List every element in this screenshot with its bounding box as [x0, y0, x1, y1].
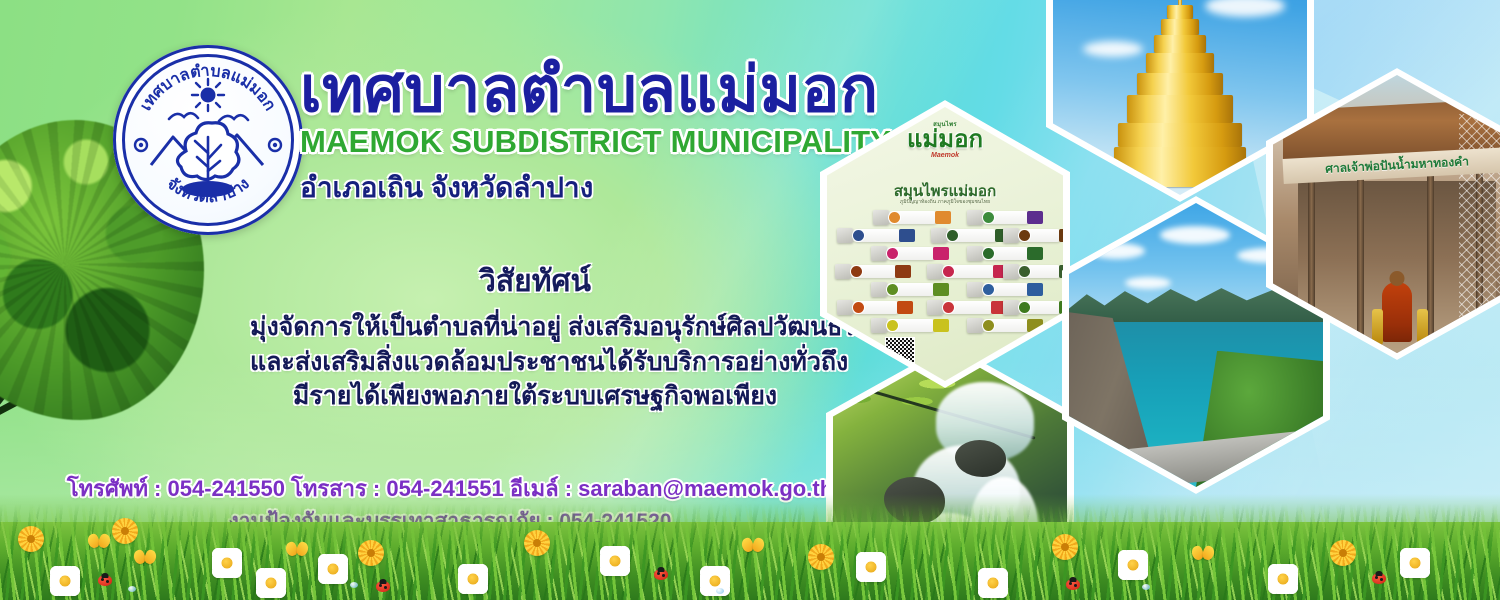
- poster-product-pill: [945, 229, 999, 242]
- dewdrop: [350, 582, 358, 588]
- vision-block: วิสัยทัศน์ มุ่งจัดการให้เป็นตำบลที่น่าอย…: [250, 258, 820, 414]
- shrine-offering: [1372, 309, 1383, 345]
- chedi-tier: [1146, 53, 1214, 73]
- yellow-flower: [18, 526, 44, 552]
- poster-product-pill: [887, 211, 939, 224]
- poster-product-pill: [941, 301, 995, 314]
- yellow-flower: [524, 530, 550, 556]
- vision-line-1: มุ่งจัดการให้เป็นตำบลที่น่าอยู่ ส่งเสริม…: [250, 310, 820, 345]
- poster-product-pill: [851, 229, 903, 242]
- poster-subtitle: ภูมิปัญญาท้องถิ่น ภาคภูมิใจของชุมชนไทย: [827, 198, 1063, 206]
- daisy-flower: [50, 566, 80, 596]
- butterfly: [742, 538, 764, 554]
- municipality-banner: เทศบาลตำบลแม่มอก จังหวัดลำปาง เทศบาลตำบล…: [0, 0, 1500, 600]
- chedi-base: [1118, 123, 1242, 147]
- vision-line-3: มีรายได้เพียงพอภายใต้ระบบเศรษฐกิจพอเพียง: [250, 379, 820, 414]
- daisy-flower: [212, 548, 242, 578]
- shrine-sign-text: ศาลเจ้าพ่อปันน้ำมหาทองคำ: [1325, 152, 1470, 178]
- daisy-flower: [856, 552, 886, 582]
- golden-chedi-structure: [1114, 0, 1246, 187]
- ladybug: [654, 569, 668, 580]
- daisy-flower: [1268, 564, 1298, 594]
- poster-product-pill: [1017, 301, 1063, 314]
- poster-product-pill: [851, 301, 901, 314]
- yellow-flower: [1330, 540, 1356, 566]
- daisy-flower: [600, 546, 630, 576]
- daisy-flower: [700, 566, 730, 596]
- yellow-flower: [808, 544, 834, 570]
- daisy-flower: [318, 554, 348, 584]
- yellow-flower: [1052, 534, 1078, 560]
- shrine-post: [1357, 158, 1364, 353]
- daisy-flower: [978, 568, 1008, 598]
- municipality-crest-logo: เทศบาลตำบลแม่มอก จังหวัดลำปาง: [113, 45, 303, 235]
- poster-product-grid: [841, 211, 1049, 337]
- poster-product-pill: [885, 319, 937, 332]
- daisy-flower: [1400, 548, 1430, 578]
- poster-contact-icons: [845, 341, 873, 367]
- chedi-tier: [1167, 5, 1193, 19]
- ladybug: [376, 581, 390, 592]
- daisy-flower: [458, 564, 488, 594]
- chedi-base: [1114, 147, 1246, 169]
- hex-photo-gallery: สมุนไพร แม่มอก Maemok สมุนไพรแม่มอก ภูมิ…: [800, 0, 1500, 580]
- poster-product-pill: [1017, 265, 1063, 278]
- poster-product-pill: [981, 319, 1031, 332]
- chedi-tier: [1161, 19, 1199, 35]
- yellow-flower: [358, 540, 384, 566]
- ladybug: [1372, 573, 1386, 584]
- chedi-tier: [1154, 35, 1206, 53]
- poster-product-pill: [941, 265, 997, 278]
- ladybug: [1066, 579, 1080, 590]
- butterfly: [286, 542, 308, 558]
- vision-heading: วิสัยทัศน์: [250, 258, 820, 305]
- poster-product-pill: [849, 265, 899, 278]
- butterfly: [88, 534, 110, 550]
- yellow-flower: [112, 518, 138, 544]
- butterfly: [1192, 546, 1214, 562]
- poster-product-pill: [981, 283, 1031, 296]
- poster-product-pill: [1017, 229, 1063, 242]
- poster-product-pill: [981, 247, 1031, 260]
- waterfall-rock: [955, 440, 1006, 477]
- grass-flower-border: [0, 504, 1500, 600]
- vision-line-2: และส่งเสริมสิ่งแวดล้อมประชาชนได้รับบริกา…: [250, 345, 820, 380]
- hex-photo-herb-poster[interactable]: สมุนไพร แม่มอก Maemok สมุนไพรแม่มอก ภูมิ…: [820, 100, 1070, 388]
- shrine-statue: [1382, 282, 1412, 342]
- chedi-tier: [1137, 73, 1223, 95]
- daisy-flower: [1118, 550, 1148, 580]
- ladybug: [98, 575, 112, 586]
- daisy-flower: [256, 568, 286, 598]
- dewdrop: [128, 586, 136, 592]
- cloud: [1125, 277, 1171, 289]
- chedi-tier: [1127, 95, 1233, 123]
- dewdrop: [1142, 584, 1150, 590]
- poster-product-pill: [885, 283, 937, 296]
- dewdrop: [716, 588, 724, 594]
- crest-emblem-icon: เทศบาลตำบลแม่มอก จังหวัดลำปาง: [113, 45, 303, 235]
- poster-product-pill: [981, 211, 1031, 224]
- cloud: [1160, 226, 1230, 244]
- poster-product-pill: [885, 247, 937, 260]
- butterfly: [134, 550, 156, 566]
